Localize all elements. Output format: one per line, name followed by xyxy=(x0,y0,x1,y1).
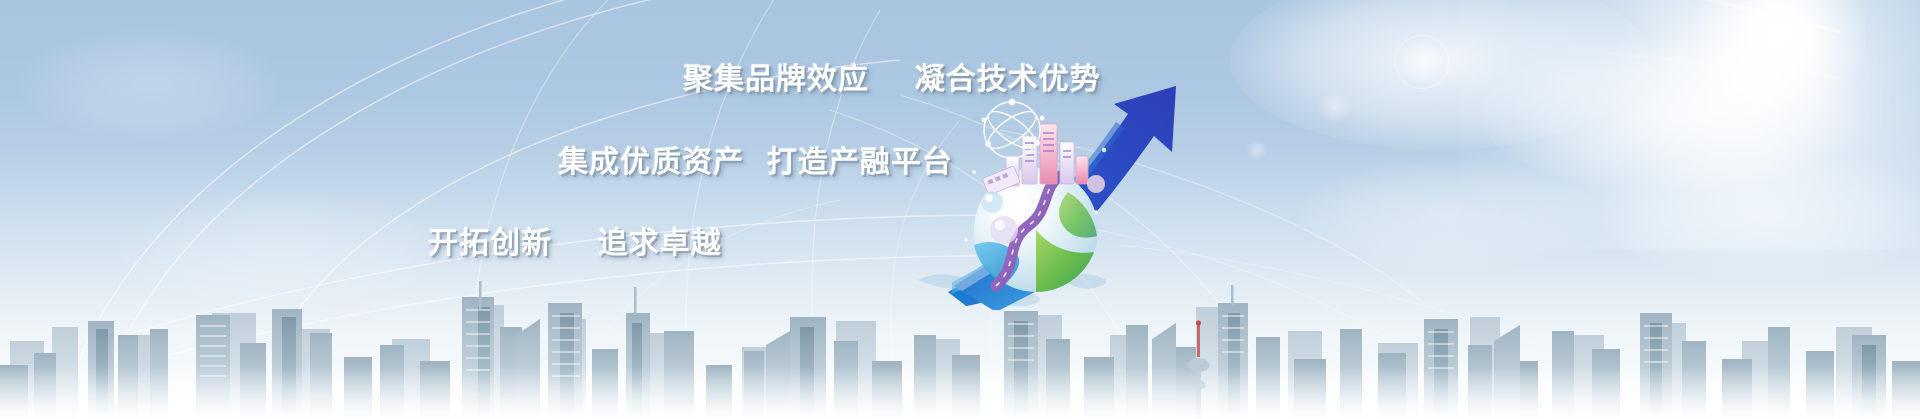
slogan-line-3: 开拓创新 追求卓越 xyxy=(428,218,722,262)
slogan-line-2: 集成优质资产 打造产融平台 xyxy=(558,137,953,181)
hero-banner: 聚集品牌效应 凝合技术优势 集成优质资产 打造产融平台 开拓创新 追求卓越 xyxy=(0,0,1920,419)
slogan-group: 聚集品牌效应 凝合技术优势 集成优质资产 打造产融平台 开拓创新 追求卓越 xyxy=(0,0,1920,419)
slogan-line-1: 聚集品牌效应 凝合技术优势 xyxy=(683,54,1101,98)
